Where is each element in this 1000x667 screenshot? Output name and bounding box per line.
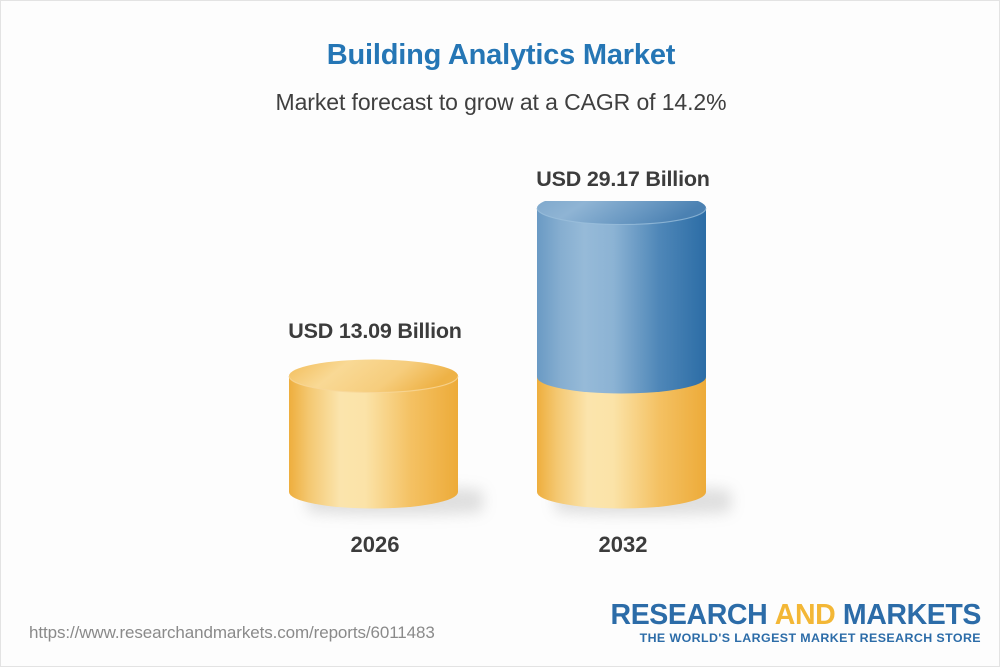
data-label-2032: USD 29.17 Billion bbox=[463, 167, 783, 192]
logo-wordmark: RESEARCH AND MARKETS bbox=[611, 601, 981, 630]
brand-logo[interactable]: RESEARCH AND MARKETS THE WORLD'S LARGEST… bbox=[611, 601, 981, 646]
logo-word-and: AND bbox=[775, 599, 836, 631]
logo-tagline: THE WORLD'S LARGEST MARKET RESEARCH STOR… bbox=[611, 630, 981, 646]
logo-word-research: RESEARCH bbox=[611, 599, 768, 631]
plot-area: USD 13.09 Billion bbox=[1, 1, 1000, 601]
category-label-2032: 2032 bbox=[463, 532, 783, 558]
data-label-2026: USD 13.09 Billion bbox=[215, 319, 535, 344]
logo-word-markets: MARKETS bbox=[843, 599, 981, 631]
bar-cylinder-2026 bbox=[283, 359, 473, 524]
bar-cylinder-2032 bbox=[531, 201, 721, 526]
chart-canvas: Building Analytics Market Market forecas… bbox=[0, 0, 1000, 667]
source-url[interactable]: https://www.researchandmarkets.com/repor… bbox=[29, 623, 435, 643]
